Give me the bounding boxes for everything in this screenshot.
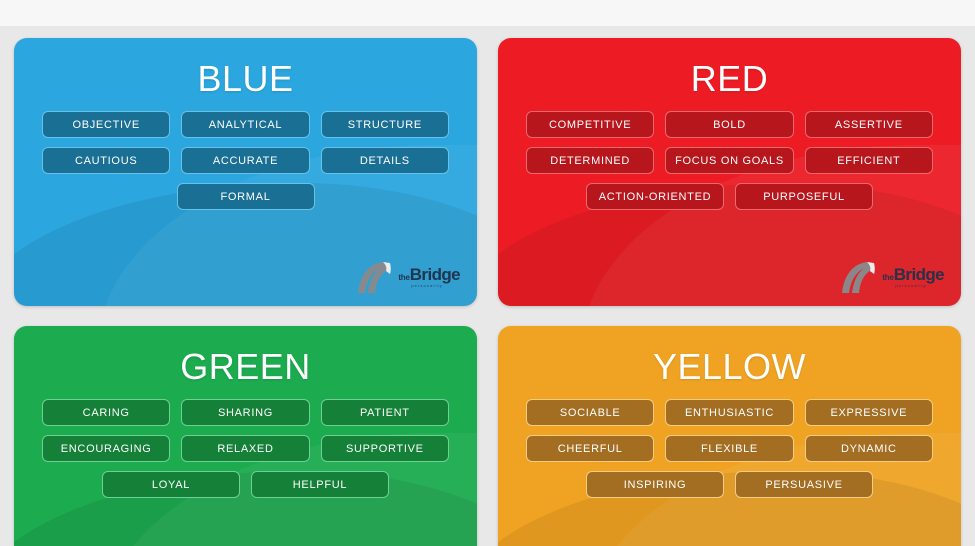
trait-row: CAUTIOUSACCURATEDETAILS <box>42 147 449 174</box>
logo-bridge-word: Bridge <box>894 266 944 283</box>
slide-canvas: BLUEOBJECTIVEANALYTICALSTRUCTURECAUTIOUS… <box>0 26 975 546</box>
trait-chip[interactable]: ACCURATE <box>181 147 309 174</box>
trait-row: ENCOURAGINGRELAXEDSUPPORTIVE <box>42 435 449 462</box>
bridge-arch-icon <box>356 260 396 294</box>
trait-chip[interactable]: CHEERFUL <box>526 435 654 462</box>
logo-text: theBridgepersonality <box>882 266 944 288</box>
trait-chip[interactable]: PERSUASIVE <box>735 471 873 498</box>
logo-the-word: the <box>882 274 893 282</box>
trait-chip[interactable]: ASSERTIVE <box>805 111 933 138</box>
trait-row: COMPETITIVEBOLDASSERTIVE <box>526 111 933 138</box>
the-bridge-logo: theBridgepersonality <box>356 260 460 294</box>
page-root: BLUEOBJECTIVEANALYTICALSTRUCTURECAUTIOUS… <box>0 0 975 546</box>
logo-the-word: the <box>398 274 409 282</box>
trait-chip[interactable]: RELAXED <box>181 435 309 462</box>
trait-row: LOYALHELPFUL <box>42 471 449 498</box>
trait-chip[interactable]: SUPPORTIVE <box>321 435 449 462</box>
trait-row: ACTION-ORIENTEDPURPOSEFUL <box>526 183 933 210</box>
trait-chip[interactable]: BOLD <box>665 111 793 138</box>
trait-chip[interactable]: CARING <box>42 399 170 426</box>
trait-row: INSPIRINGPERSUASIVE <box>526 471 933 498</box>
trait-chip[interactable]: FORMAL <box>177 183 315 210</box>
trait-chip[interactable]: DYNAMIC <box>805 435 933 462</box>
trait-list: OBJECTIVEANALYTICALSTRUCTURECAUTIOUSACCU… <box>14 111 477 210</box>
colour-card-green[interactable]: GREENCARINGSHARINGPATIENTENCOURAGINGRELA… <box>14 326 477 546</box>
trait-chip[interactable]: PATIENT <box>321 399 449 426</box>
trait-chip[interactable]: COMPETITIVE <box>526 111 654 138</box>
trait-chip[interactable]: ENCOURAGING <box>42 435 170 462</box>
trait-row: FORMAL <box>42 183 449 210</box>
trait-chip[interactable]: INSPIRING <box>586 471 724 498</box>
card-title-yellow: YELLOW <box>498 326 961 399</box>
trait-row: DETERMINEDFOCUS ON GOALSEFFICIENT <box>526 147 933 174</box>
colour-card-yellow[interactable]: YELLOWSOCIABLEENTHUSIASTICEXPRESSIVECHEE… <box>498 326 961 546</box>
trait-row: CHEERFULFLEXIBLEDYNAMIC <box>526 435 933 462</box>
trait-chip[interactable]: ACTION-ORIENTED <box>586 183 724 210</box>
trait-chip[interactable]: STRUCTURE <box>321 111 449 138</box>
trait-chip[interactable]: SOCIABLE <box>526 399 654 426</box>
trait-chip[interactable]: EXPRESSIVE <box>805 399 933 426</box>
card-title-green: GREEN <box>14 326 477 399</box>
logo-text: theBridgepersonality <box>398 266 460 288</box>
trait-chip[interactable]: LOYAL <box>102 471 240 498</box>
trait-row: OBJECTIVEANALYTICALSTRUCTURE <box>42 111 449 138</box>
trait-list: COMPETITIVEBOLDASSERTIVEDETERMINEDFOCUS … <box>498 111 961 210</box>
trait-row: SOCIABLEENTHUSIASTICEXPRESSIVE <box>526 399 933 426</box>
trait-chip[interactable]: EFFICIENT <box>805 147 933 174</box>
logo-bridge-word: Bridge <box>410 266 460 283</box>
colour-card-blue[interactable]: BLUEOBJECTIVEANALYTICALSTRUCTURECAUTIOUS… <box>14 38 477 306</box>
trait-chip[interactable]: HELPFUL <box>251 471 389 498</box>
trait-chip[interactable]: PURPOSEFUL <box>735 183 873 210</box>
top-white-strip <box>0 0 975 26</box>
card-title-red: RED <box>498 38 961 111</box>
trait-list: CARINGSHARINGPATIENTENCOURAGINGRELAXEDSU… <box>14 399 477 498</box>
colour-card-red[interactable]: REDCOMPETITIVEBOLDASSERTIVEDETERMINEDFOC… <box>498 38 961 306</box>
bridge-arch-icon <box>840 260 880 294</box>
trait-list: SOCIABLEENTHUSIASTICEXPRESSIVECHEERFULFL… <box>498 399 961 498</box>
logo-subtitle: personality <box>895 284 926 288</box>
trait-row: CARINGSHARINGPATIENT <box>42 399 449 426</box>
trait-chip[interactable]: FOCUS ON GOALS <box>665 147 793 174</box>
trait-chip[interactable]: ENTHUSIASTIC <box>665 399 793 426</box>
trait-chip[interactable]: ANALYTICAL <box>181 111 309 138</box>
logo-subtitle: personality <box>411 284 442 288</box>
trait-chip[interactable]: OBJECTIVE <box>42 111 170 138</box>
the-bridge-logo: theBridgepersonality <box>840 260 944 294</box>
card-title-blue: BLUE <box>14 38 477 111</box>
trait-chip[interactable]: SHARING <box>181 399 309 426</box>
trait-chip[interactable]: CAUTIOUS <box>42 147 170 174</box>
trait-chip[interactable]: FLEXIBLE <box>665 435 793 462</box>
trait-chip[interactable]: DETERMINED <box>526 147 654 174</box>
trait-chip[interactable]: DETAILS <box>321 147 449 174</box>
colour-card-grid: BLUEOBJECTIVEANALYTICALSTRUCTURECAUTIOUS… <box>0 26 975 546</box>
